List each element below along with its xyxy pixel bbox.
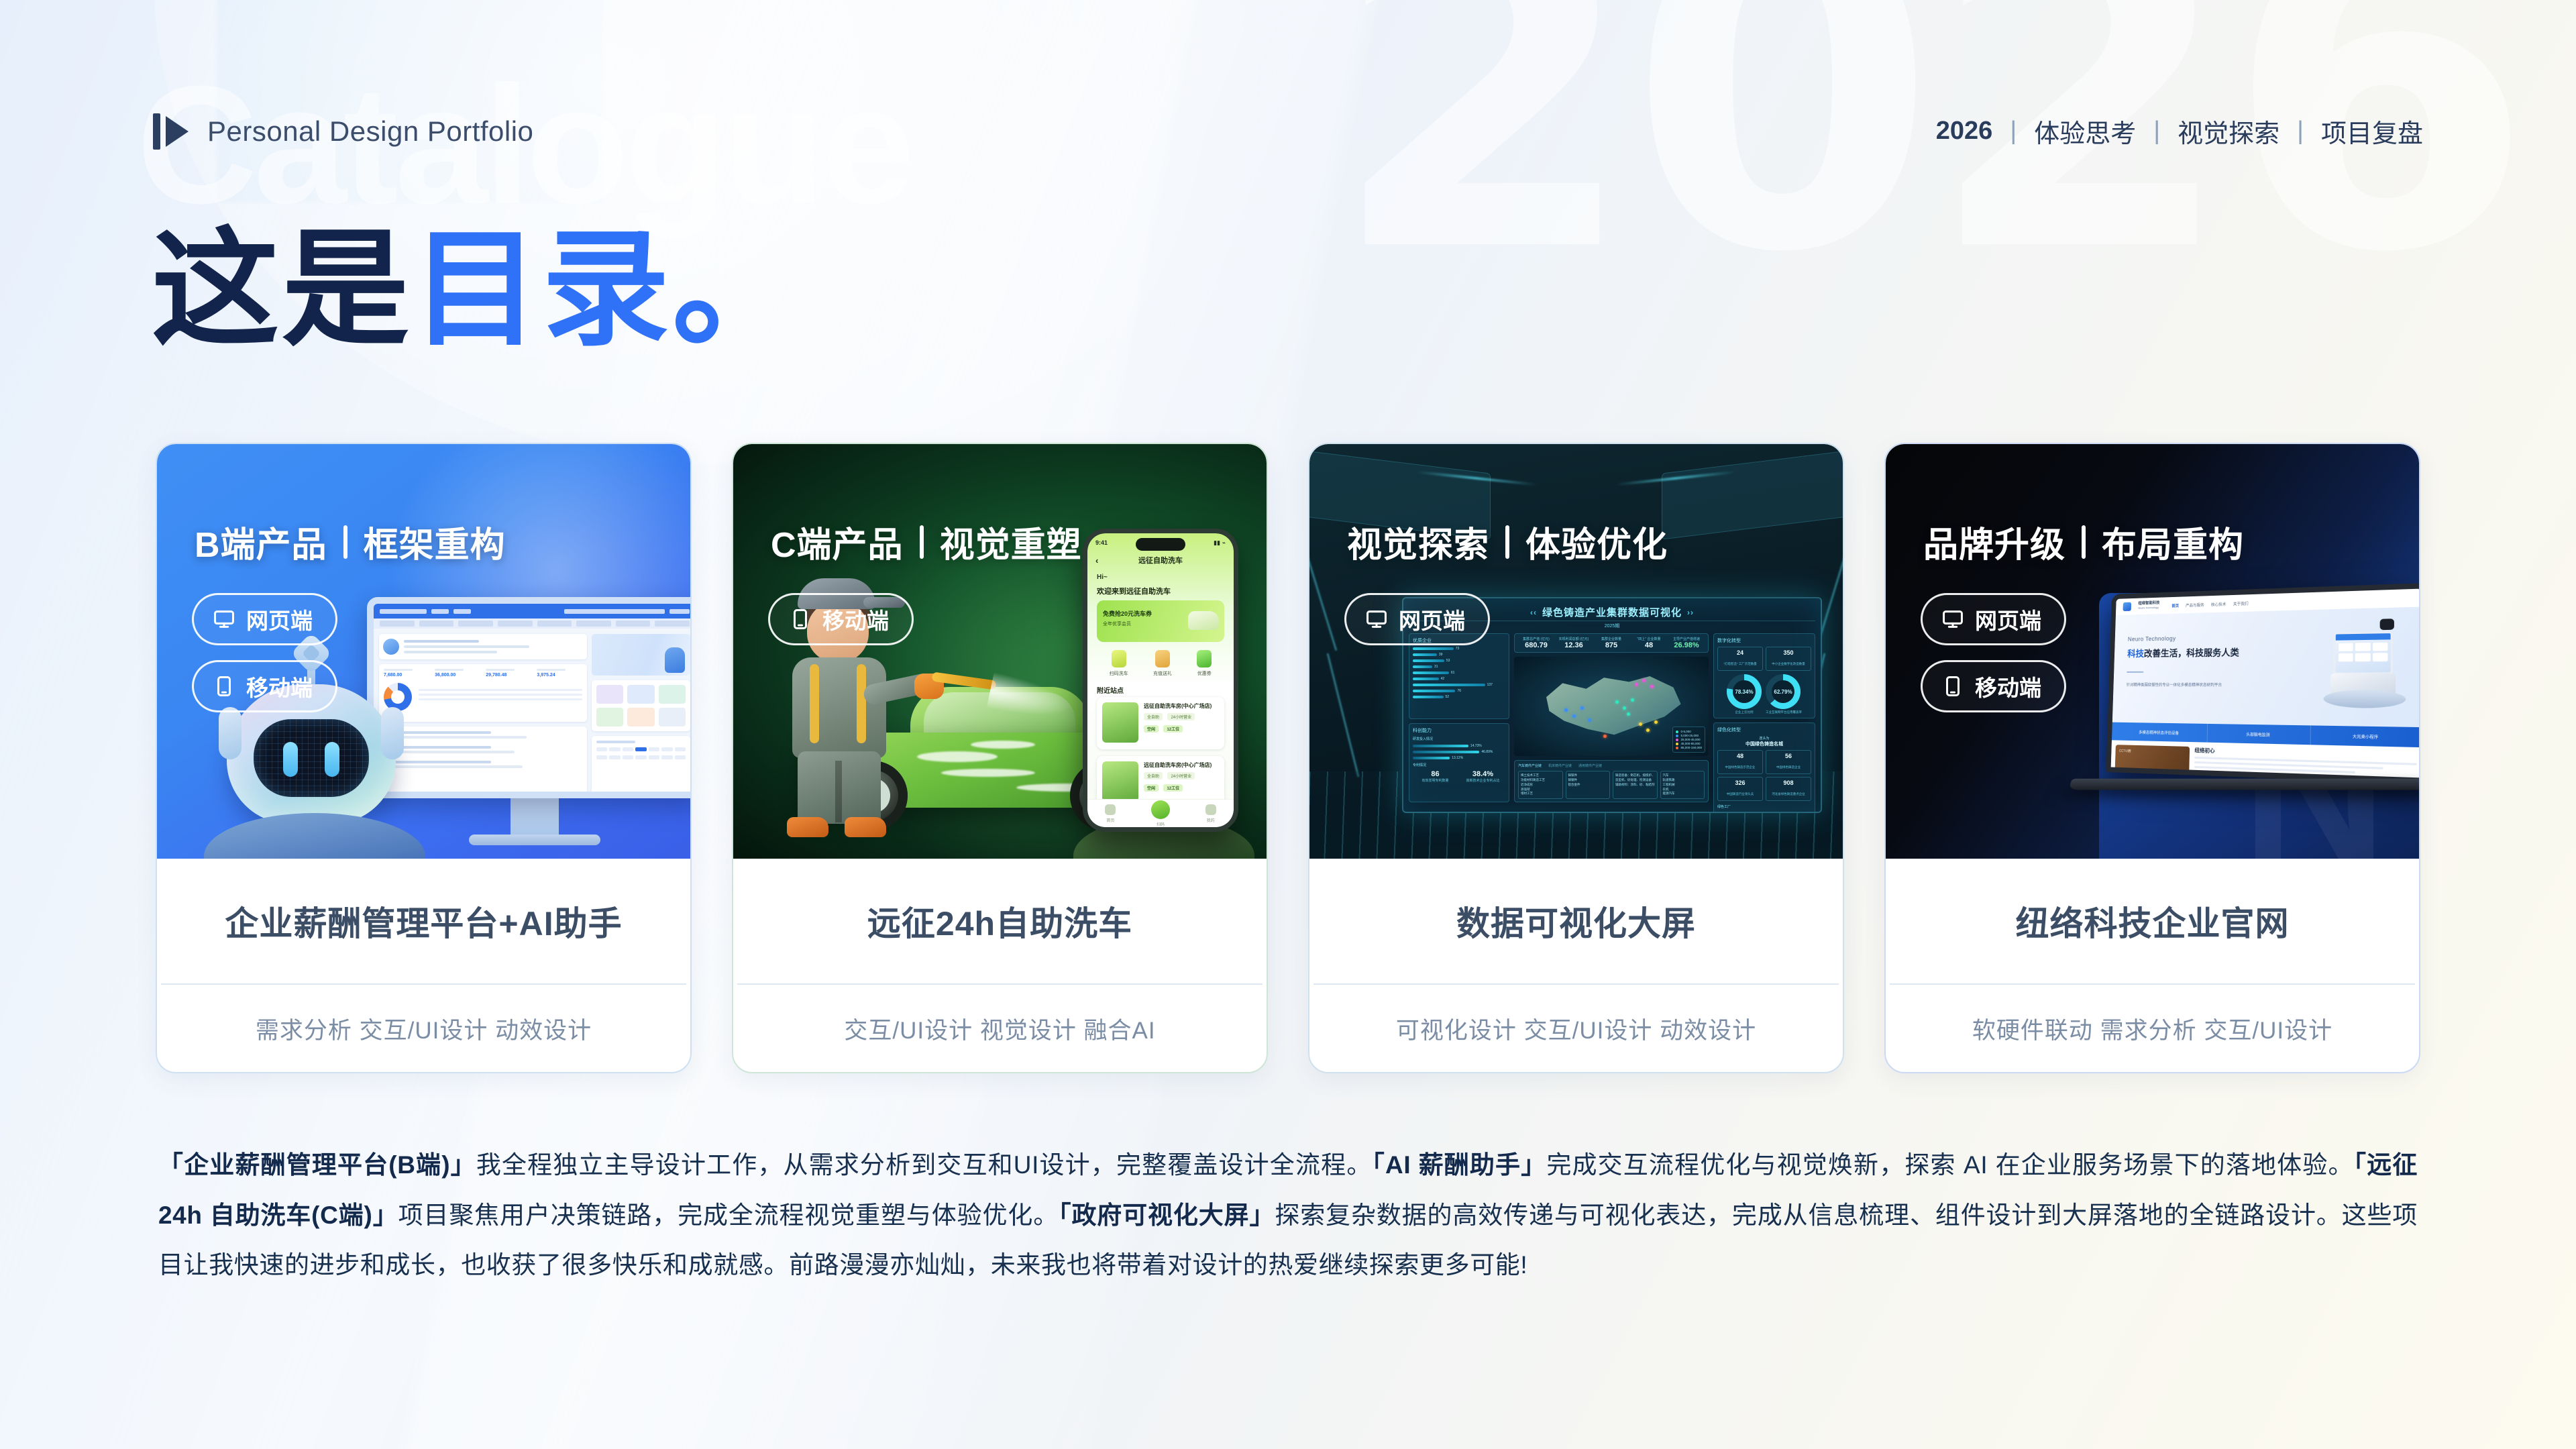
nav-item-experience[interactable]: 体验思考 xyxy=(2034,113,2136,150)
site-hero-sub: 针对精神类围绕慢性的专业一体化多模态精神状态研判平台 xyxy=(2127,682,2222,688)
page-title-accent: 目录。 xyxy=(412,219,802,361)
chevron-right-icon: ›› xyxy=(1687,608,1694,617)
page-header: Personal Design Portfolio 2026 | 体验思考 | … xyxy=(153,113,2423,150)
platform-tag-web[interactable]: 网页端 xyxy=(1921,593,2066,645)
phone-status-icons: ▮▮ ⌁ xyxy=(1214,539,1226,547)
quick-action[interactable]: 充值送礼 xyxy=(1153,650,1172,677)
phone-mockup: 9:41 ▮▮ ⌁ ‹ 远征自助洗车 Hi~ 欢迎来到远征自助洗车 免费抢20元… xyxy=(1083,529,1238,832)
platform-tag-label: 移动端 xyxy=(822,603,889,635)
site-strip-item[interactable]: 大兆乘小程序 xyxy=(2311,725,2419,747)
card-hero-title-left: C端产品 xyxy=(771,517,904,567)
nav-item-review[interactable]: 项目复盘 xyxy=(2321,113,2423,150)
card-hero-title-left: 品牌升级 xyxy=(1923,517,2065,567)
brand-label: Personal Design Portfolio xyxy=(207,115,533,148)
platform-tag-label: 网页端 xyxy=(246,603,313,635)
phone-section-title: 附近站点 xyxy=(1097,685,1124,695)
card-hero-title: 视觉探索 体验优化 xyxy=(1347,517,1668,567)
panel-title: 绿色化转型 xyxy=(1717,727,1811,733)
page-title: 这是目录。 xyxy=(152,221,802,359)
nav-separator: | xyxy=(2153,117,2160,146)
project-card-grid: 7,680.00 36,800.00 29,780.48 3,975.24 xyxy=(156,443,2420,1073)
platform-tag-mobile[interactable]: 移动端 xyxy=(192,660,337,712)
laptop-mockup: 纽络智能科技 Neuro Technology 首页 产品与服务 核心技术 关于… xyxy=(2070,588,2419,793)
project-card[interactable]: 9:41 ▮▮ ⌁ ‹ 远征自助洗车 Hi~ 欢迎来到远征自助洗车 免费抢20元… xyxy=(732,443,1268,1073)
station-name: 远征自助洗车房(中心广场店) xyxy=(1144,761,1219,769)
monitor-icon xyxy=(1941,608,1964,631)
panel-title: 科创能力 xyxy=(1413,727,1505,734)
panel-title: 数字化转型 xyxy=(1717,637,1811,644)
tab-home[interactable]: 首页 xyxy=(1105,804,1116,823)
monitor-icon xyxy=(1365,608,1388,631)
summary-text: 完成交互流程优化与视觉焕新，探索 AI 在企业服务场景下的落地体验。 xyxy=(1546,1151,2353,1179)
phone-app-title: 远征自助洗车 xyxy=(1138,555,1183,566)
card-skill-tags: 交互/UI设计 视觉设计 融合AI xyxy=(733,985,1267,1072)
project-card[interactable]: 7,680.00 36,800.00 29,780.48 3,975.24 xyxy=(156,443,692,1073)
site-footer-tag: CCTV/腾 xyxy=(2119,749,2131,753)
card-project-name: 远征24h自助洗车 xyxy=(733,859,1267,983)
card-hero-title-right: 视觉重塑 xyxy=(940,517,1082,567)
card-project-name: 企业薪酬管理平台+AI助手 xyxy=(157,859,690,983)
platform-tag-label: 网页端 xyxy=(1399,603,1465,635)
site-nav-item[interactable]: 产品与服务 xyxy=(2186,602,2204,608)
site-hero-en: Neuro Technology xyxy=(2128,635,2176,643)
platform-tag-label: 网页端 xyxy=(1975,603,2041,635)
card-skill-tags: 软硬件联动 需求分析 交互/UI设计 xyxy=(1886,985,2419,1072)
imac-mockup: 7,680.00 36,800.00 29,780.48 3,975.24 xyxy=(367,597,690,845)
site-nav-item[interactable]: 首页 xyxy=(2171,602,2179,608)
phone-promo-banner[interactable]: 免费抢20元洗车券 全年优享会员 xyxy=(1097,600,1224,642)
card-platform-tags: 网页端 xyxy=(1344,593,1490,645)
platform-tag-label: 移动端 xyxy=(246,670,313,702)
summary-highlight: 「企业薪酬管理平台(B端)」 xyxy=(158,1151,476,1179)
quick-action[interactable]: 优惠券 xyxy=(1197,650,1212,677)
phone-welcome: 欢迎来到远征自助洗车 xyxy=(1097,586,1171,596)
card-hero-title-left: 视觉探索 xyxy=(1347,517,1489,567)
phone-icon xyxy=(789,608,812,631)
nav-item-visual[interactable]: 视觉探索 xyxy=(2178,113,2279,150)
cluster-map: 0-5,000 5,000-25,000 25,000-45,000 45,00… xyxy=(1514,657,1709,756)
card-hero-art: 7,680.00 36,800.00 29,780.48 3,975.24 xyxy=(157,444,690,859)
promo-title: 免费抢20元洗车券 xyxy=(1103,609,1152,618)
page-title-dark: 这是 xyxy=(152,219,412,361)
card-project-name: 数据可视化大屏 xyxy=(1309,859,1843,983)
site-nav-item[interactable]: 核心技术 xyxy=(2211,601,2226,607)
project-card[interactable]: ‹‹ 绿色铸造产业集群数据可视化 ›› 2025期 优质企业 73 39 53 xyxy=(1308,443,1844,1073)
card-hero-title: B端产品 框架重构 xyxy=(195,517,506,567)
card-hero-art: 9:41 ▮▮ ⌁ ‹ 远征自助洗车 Hi~ 欢迎来到远征自助洗车 免费抢20元… xyxy=(733,444,1267,859)
chevron-left-icon: ‹‹ xyxy=(1530,608,1537,617)
summary-text: 我全程独立主导设计工作，从需求分析到交互和UI设计，完整覆盖设计全流程。 xyxy=(476,1151,1373,1179)
card-hero-art: N 纽络智能科技 Neuro Technology 首页 产品与服务 xyxy=(1886,444,2419,859)
brand: Personal Design Portfolio xyxy=(153,113,533,150)
quick-action[interactable]: 扫码洗车 xyxy=(1110,650,1128,677)
platform-tag-mobile[interactable]: 移动端 xyxy=(1921,660,2066,712)
card-project-name: 纽络科技企业官网 xyxy=(1886,859,2419,983)
phone-greeting: Hi~ xyxy=(1097,574,1108,581)
back-icon[interactable]: ‹ xyxy=(1095,555,1098,566)
card-skill-tags: 需求分析 交互/UI设计 动效设计 xyxy=(157,985,690,1072)
platform-tag-mobile[interactable]: 移动端 xyxy=(768,593,914,645)
monitor-icon xyxy=(213,608,235,631)
site-strip-item[interactable]: 多模态精神状态评估设备 xyxy=(2112,722,2208,743)
site-hero-accent: 科技 xyxy=(2127,649,2144,659)
site-strip-item[interactable]: 头部脑电监测 xyxy=(2208,724,2311,745)
promo-sub: 全年优享会员 xyxy=(1103,621,1131,627)
nav-separator: | xyxy=(2297,117,2304,146)
project-card[interactable]: N 纽络智能科技 Neuro Technology 首页 产品与服务 xyxy=(1884,443,2420,1073)
site-nav-item[interactable]: 关于我们 xyxy=(2233,600,2249,606)
platform-tag-label: 移动端 xyxy=(1975,670,2041,702)
card-hero-title-left: B端产品 xyxy=(195,517,327,567)
station-name: 远征自助洗车房(中心广场店) xyxy=(1144,702,1219,710)
card-skill-tags: 可视化设计 交互/UI设计 动效设计 xyxy=(1309,985,1843,1072)
summary-highlight: 「AI 薪酬助手」 xyxy=(1372,1151,1546,1179)
card-platform-tags: 网页端 移动端 xyxy=(1921,593,2066,712)
platform-tag-web[interactable]: 网页端 xyxy=(192,593,337,645)
station-card[interactable]: 远征自助洗车房(中心广场店) 全自助 24小时营业 空闲 12工位 xyxy=(1097,697,1224,749)
site-logo-name: 纽络智能科技 xyxy=(2138,601,2159,606)
card-hero-title: 品牌升级 布局重构 xyxy=(1923,517,2244,567)
tab-profile[interactable]: 我的 xyxy=(1205,804,1216,823)
nav-year: 2026 xyxy=(1936,117,1993,146)
summary-paragraph: 「企业薪酬管理平台(B端)」我全程独立主导设计工作，从需求分析到交互和UI设计，… xyxy=(158,1140,2418,1291)
summary-text: 项目聚焦用户决策链路，完成全流程视觉重塑与体验优化。 xyxy=(398,1201,1059,1229)
play-mark-icon xyxy=(153,113,189,150)
card-hero-art: ‹‹ 绿色铸造产业集群数据可视化 ›› 2025期 优质企业 73 39 53 xyxy=(1309,444,1843,859)
summary-highlight: 「政府可视化大屏」 xyxy=(1059,1201,1275,1229)
tab-scan[interactable]: 扫码 xyxy=(1151,800,1170,827)
top-nav: 2026 | 体验思考 | 视觉探索 | 项目复盘 xyxy=(1936,113,2423,150)
card-hero-title-right: 框架重构 xyxy=(364,517,506,567)
site-hero-rest: 改善生活，科技服务人类 xyxy=(2144,647,2239,659)
nav-separator: | xyxy=(2010,117,2017,146)
phone-status-time: 9:41 xyxy=(1095,539,1108,547)
card-hero-title-right: 体验优化 xyxy=(1525,517,1668,567)
phone-icon xyxy=(213,675,235,698)
card-platform-tags: 网页端 移动端 xyxy=(192,593,337,712)
card-hero-title: C端产品 视觉重塑 xyxy=(771,517,1082,567)
site-logo-en: Neuro Technology xyxy=(2138,606,2159,610)
phone-icon xyxy=(1941,675,1964,698)
card-hero-title-right: 布局重构 xyxy=(2102,517,2244,567)
card-platform-tags: 移动端 xyxy=(768,593,914,645)
platform-tag-web[interactable]: 网页端 xyxy=(1344,593,1490,645)
data-screen-title: 绿色铸造产业集群数据可视化 xyxy=(1542,605,1682,619)
